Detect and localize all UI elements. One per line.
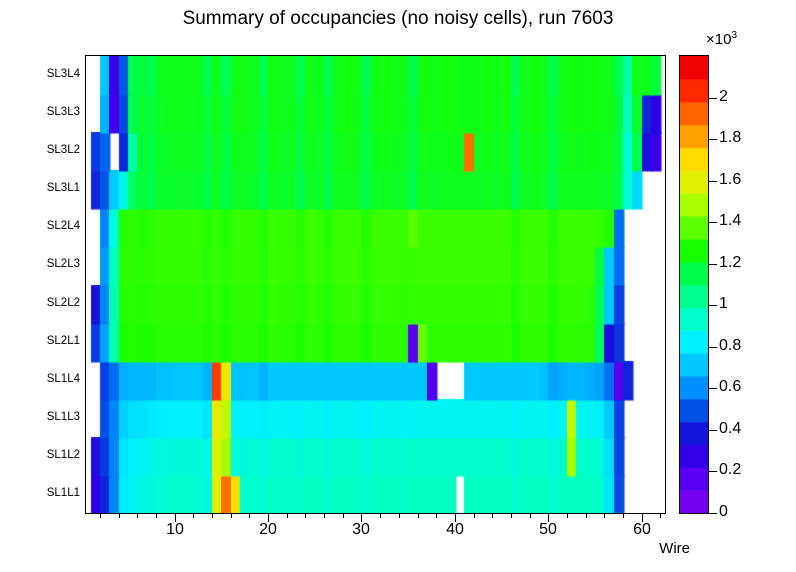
x-axis-tick-label: 20: [259, 521, 277, 539]
z-axis-tick-label: 0.2: [719, 461, 741, 479]
z-axis-tick: [708, 264, 717, 265]
y-axis-label-sl2l3: SL2L3: [10, 258, 80, 270]
y-axis-label-sl2l2: SL2L2: [10, 297, 80, 309]
y-axis-label-sl3l1: SL3L1: [10, 182, 80, 194]
z-axis-exponent: ×103: [706, 30, 737, 48]
z-axis-ticks: [708, 56, 718, 513]
color-scale-gradient: [680, 56, 708, 513]
x-axis-minor-tick: [156, 513, 157, 518]
x-axis-minor-tick: [418, 513, 419, 518]
x-axis-minor-tick: [623, 513, 624, 518]
x-axis-tick-label: 30: [352, 521, 370, 539]
z-axis-tick: [708, 139, 717, 140]
x-axis-minor-tick: [511, 513, 512, 518]
z-axis-tick-label: 1.2: [719, 254, 741, 272]
x-axis-minor-tick: [193, 513, 194, 518]
x-axis-minor-tick: [119, 513, 120, 518]
z-axis-tick-label: 1.4: [719, 212, 741, 230]
x-axis-minor-tick: [137, 513, 138, 518]
y-axis-labels: SL1L1SL1L2SL1L3SL1L4SL2L1SL2L2SL2L3SL2L4…: [8, 55, 80, 512]
y-axis-label-sl2l1: SL2L1: [10, 335, 80, 347]
z-axis-tick: [708, 347, 717, 348]
x-axis-minor-tick: [436, 513, 437, 518]
z-axis-tick: [708, 181, 717, 182]
page-title: Summary of occupancies (no noisy cells),…: [0, 8, 796, 30]
x-axis-minor-tick: [660, 513, 661, 518]
x-axis-tick-label: 10: [166, 521, 184, 539]
z-axis-tick-labels: 00.20.40.60.811.21.41.61.82: [719, 55, 789, 512]
x-axis-minor-tick: [492, 513, 493, 518]
z-axis-tick-label: 1.8: [719, 129, 741, 147]
color-scale-bar[interactable]: [679, 55, 709, 514]
x-axis-minor-tick: [474, 513, 475, 518]
y-axis-label-sl3l3: SL3L3: [10, 106, 80, 118]
x-axis-minor-tick: [287, 513, 288, 518]
z-axis-tick-label: 0.4: [719, 420, 741, 438]
x-axis-minor-tick: [249, 513, 250, 518]
z-axis-tick-label: 0.6: [719, 378, 741, 396]
z-axis-tick: [708, 98, 717, 99]
z-axis-tick-label: 0: [719, 503, 728, 521]
y-axis-label-sl1l1: SL1L1: [10, 487, 80, 499]
z-axis-tick-label: 1.6: [719, 171, 741, 189]
x-axis-tick-label: 40: [446, 521, 464, 539]
z-axis-tick-label: 1: [719, 295, 728, 313]
z-axis-tick: [708, 471, 717, 472]
x-axis-minor-tick: [324, 513, 325, 518]
y-axis-label-sl3l2: SL3L2: [10, 144, 80, 156]
x-axis-title: Wire: [0, 540, 690, 557]
y-axis-label-sl1l4: SL1L4: [10, 373, 80, 385]
x-axis-tick-label: 60: [633, 521, 651, 539]
z-axis-tick: [708, 513, 717, 514]
root-histogram-canvas: Summary of occupancies (no noisy cells),…: [0, 0, 796, 572]
x-axis-minor-tick: [100, 513, 101, 518]
z-exponent-power: 3: [731, 30, 737, 41]
x-axis-minor-tick: [567, 513, 568, 518]
x-axis-minor-tick: [305, 513, 306, 518]
x-axis-minor-tick: [586, 513, 587, 518]
x-axis-minor-tick: [231, 513, 232, 518]
z-axis-tick: [708, 388, 717, 389]
x-axis-minor-tick: [530, 513, 531, 518]
x-axis-minor-tick: [343, 513, 344, 518]
z-axis-tick: [708, 305, 717, 306]
x-axis-minor-tick: [399, 513, 400, 518]
y-axis-label-sl3l4: SL3L4: [10, 68, 80, 80]
y-axis-label-sl2l4: SL2L4: [10, 220, 80, 232]
y-axis-label-sl1l3: SL1L3: [10, 411, 80, 423]
x-axis-minor-tick: [604, 513, 605, 518]
z-exponent-base: ×10: [706, 31, 731, 48]
x-axis-tick-label: 50: [539, 521, 557, 539]
y-axis-label-sl1l2: SL1L2: [10, 449, 80, 461]
z-axis-tick-label: 2: [719, 88, 728, 106]
x-axis-minor-tick: [212, 513, 213, 518]
z-axis-tick-label: 0.8: [719, 337, 741, 355]
z-axis-tick: [708, 222, 717, 223]
x-axis-minor-tick: [380, 513, 381, 518]
plot-frame[interactable]: [85, 55, 666, 514]
heatmap-cells[interactable]: [86, 56, 665, 513]
z-axis-tick: [708, 430, 717, 431]
